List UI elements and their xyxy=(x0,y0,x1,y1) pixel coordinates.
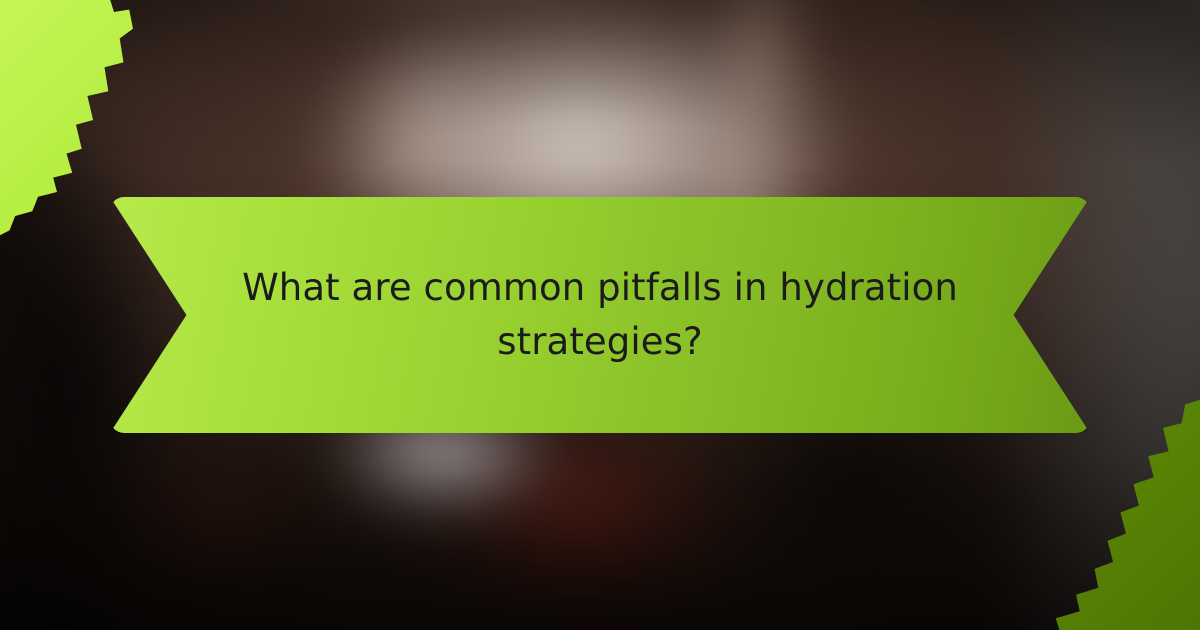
headline-ribbon-banner: What are common pitfalls in hydration st… xyxy=(110,197,1090,433)
social-card: What are common pitfalls in hydration st… xyxy=(0,0,1200,630)
headline-text: What are common pitfalls in hydration st… xyxy=(240,261,960,368)
